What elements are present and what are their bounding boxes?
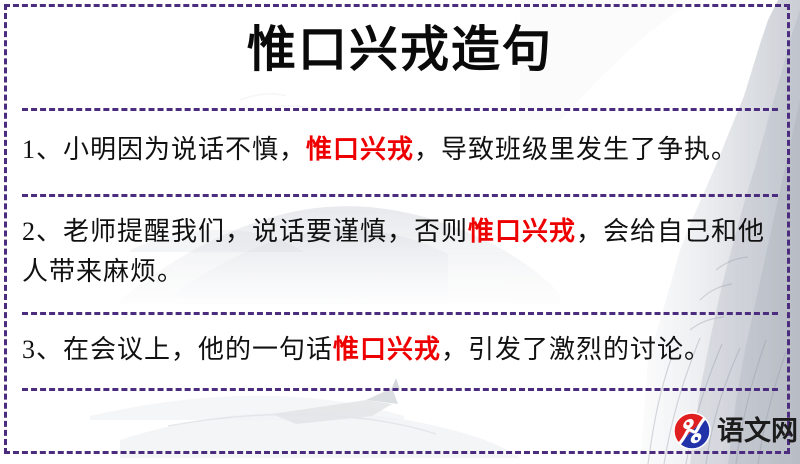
separator-line-2 bbox=[22, 194, 778, 197]
example-sentence-3: 3、在会议上，他的一句话惟口兴戎，引发了激烈的讨论。 bbox=[22, 330, 778, 370]
sentence-3-after: ，引发了激烈的讨论。 bbox=[441, 335, 711, 364]
separator-line-3 bbox=[22, 312, 778, 315]
sentence-1-before: 1、小明因为说话不慎， bbox=[22, 135, 306, 164]
sentence-1-after: ，导致班级里发生了争执。 bbox=[414, 135, 738, 164]
page-title: 惟口兴戎造句 bbox=[0, 22, 800, 78]
sentence-card-page: 惟口兴戎造句 1、小明因为说话不慎，惟口兴戎，导致班级里发生了争执。 2、老师提… bbox=[0, 0, 800, 464]
sentence-2-before: 2、老师提醒我们，说话要谨慎，否则 bbox=[22, 217, 468, 246]
sentence-1-idiom: 惟口兴戎 bbox=[306, 135, 414, 164]
yinyang-circle-icon bbox=[672, 411, 712, 451]
example-sentence-2: 2、老师提醒我们，说话要谨慎，否则惟口兴戎，会给自己和他人带来麻烦。 bbox=[22, 212, 778, 292]
sentence-3-before: 3、在会议上，他的一句话 bbox=[22, 335, 333, 364]
separator-line-4 bbox=[22, 388, 778, 391]
site-logo: 语文网 bbox=[672, 408, 790, 454]
example-sentence-1: 1、小明因为说话不慎，惟口兴戎，导致班级里发生了争执。 bbox=[22, 130, 778, 170]
sentence-2-idiom: 惟口兴戎 bbox=[468, 217, 576, 246]
card-content: 惟口兴戎造句 1、小明因为说话不慎，惟口兴戎，导致班级里发生了争执。 2、老师提… bbox=[0, 0, 800, 464]
separator-line-1 bbox=[22, 108, 778, 111]
sentence-3-idiom: 惟口兴戎 bbox=[333, 335, 441, 364]
logo-text: 语文网 bbox=[717, 418, 798, 445]
